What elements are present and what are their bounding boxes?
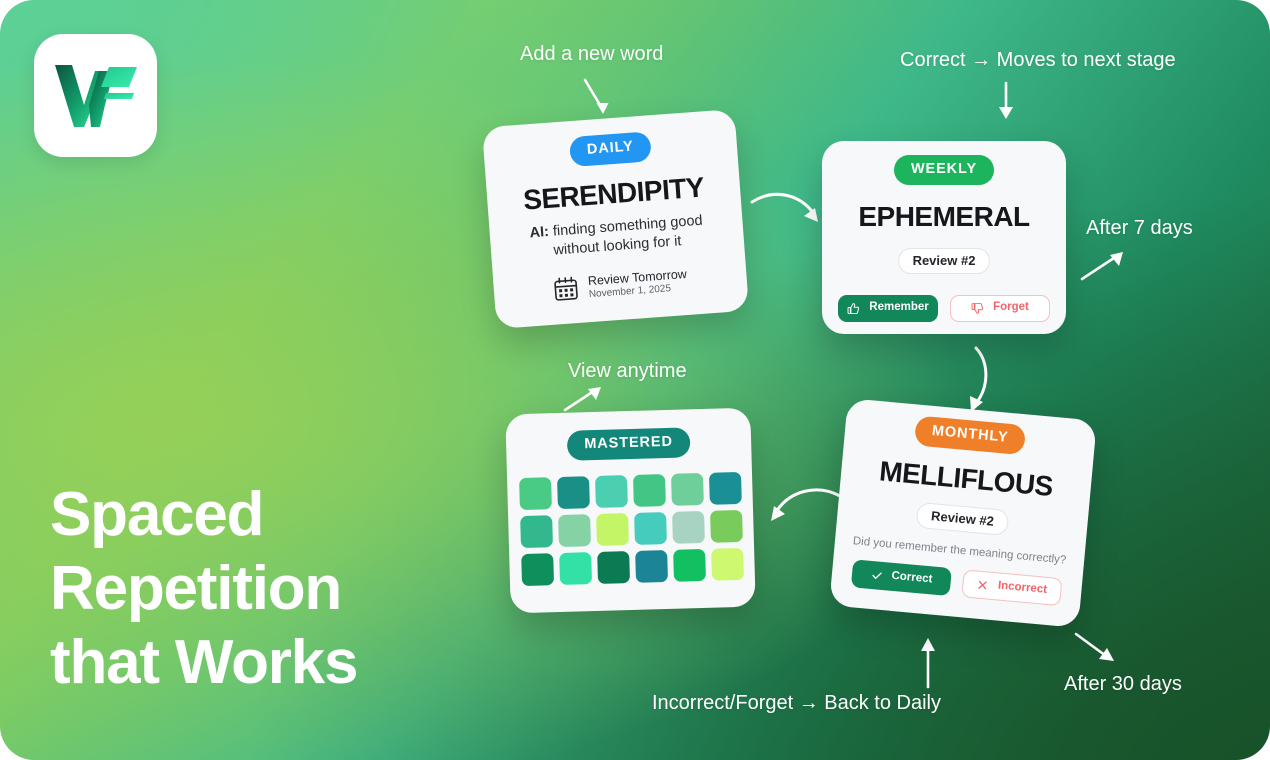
page-headline: Spaced Repetition that Works — [50, 478, 480, 700]
card-monthly-actions: Correct Incorrect — [847, 558, 1067, 606]
mastered-grid-cell — [596, 513, 629, 546]
connector-daily-to-weekly-icon — [748, 186, 828, 236]
thumbs-down-icon — [971, 302, 984, 315]
mastered-grid-cell — [632, 474, 665, 507]
calendar-icon — [552, 275, 580, 303]
remember-button[interactable]: Remember — [838, 295, 938, 322]
incorrect-button[interactable]: Incorrect — [961, 569, 1062, 606]
mastered-grid-cell — [673, 548, 706, 581]
cross-icon — [976, 578, 989, 591]
badge-mastered: MASTERED — [567, 427, 690, 460]
check-icon — [870, 568, 883, 581]
arrow-up-icon — [906, 634, 950, 690]
card-daily[interactable]: DAILY SERENDIPITY AI: finding something … — [482, 109, 749, 329]
arrow-down-right-icon-2 — [1070, 628, 1124, 666]
mastered-grid-cell — [711, 547, 744, 580]
mastered-grid-cell — [519, 477, 552, 510]
arrow-up-right-icon — [1077, 248, 1131, 284]
card-weekly-word: EPHEMERAL — [838, 201, 1050, 233]
mastered-grid-cell — [557, 476, 590, 509]
incorrect-button-label: Incorrect — [997, 580, 1047, 596]
app-logo — [34, 34, 157, 157]
card-daily-definition-label: AI: — [529, 223, 549, 240]
arrow-up-right-icon-2 — [560, 383, 608, 415]
mastered-grid-cell — [710, 509, 743, 542]
annotation-correct-next: Correct → Moves to next stage — [900, 48, 1176, 72]
card-weekly-review-pill: Review #2 — [898, 248, 991, 274]
forget-button[interactable]: Forget — [950, 295, 1050, 322]
card-daily-definition-text: finding something good without looking f… — [552, 212, 703, 258]
thumbs-up-icon — [847, 302, 860, 315]
annotation-add-word: Add a new word — [520, 42, 663, 66]
mastered-grid-cell — [597, 551, 630, 584]
card-daily-meta: Review Tomorrow November 1, 2025 — [511, 263, 729, 306]
badge-weekly: WEEKLY — [894, 155, 994, 185]
w-logo-icon — [53, 61, 139, 131]
correct-button[interactable]: Correct — [851, 559, 952, 596]
infographic-canvas: Spaced Repetition that Works Add a new w… — [0, 0, 1270, 760]
forget-button-label: Forget — [993, 302, 1029, 314]
remember-button-label: Remember — [869, 302, 928, 314]
annotation-after-30-days: After 30 days — [1064, 672, 1182, 696]
headline-line-1: Spaced — [50, 478, 480, 552]
headline-line-3: that Works — [50, 626, 480, 700]
mastered-grid-cell — [521, 553, 554, 586]
mastered-grid-cell — [520, 515, 553, 548]
mastered-grid-cell — [672, 510, 705, 543]
mastered-grid-cell — [634, 512, 667, 545]
headline-line-2: Repetition — [50, 552, 480, 626]
card-mastered[interactable]: MASTERED — [505, 408, 755, 614]
connector-monthly-to-mastered-icon — [762, 484, 844, 530]
card-daily-definition: AI: finding something good without looki… — [507, 210, 726, 264]
mastered-grid-cell — [635, 550, 668, 583]
mastered-grid-cell — [595, 475, 628, 508]
arrow-down-icon — [990, 80, 1022, 124]
mastered-progress-grid — [507, 471, 755, 586]
arrow-down-right-icon — [575, 76, 621, 120]
badge-daily: DAILY — [569, 131, 652, 166]
mastered-grid-cell — [708, 471, 741, 504]
mastered-grid-cell — [670, 472, 703, 505]
card-daily-word: SERENDIPITY — [504, 170, 723, 218]
card-monthly-review-pill: Review #2 — [915, 501, 1010, 535]
mastered-grid-cell — [558, 514, 591, 547]
correct-button-label: Correct — [891, 571, 933, 586]
card-weekly[interactable]: WEEKLY EPHEMERAL Review #2 Remember Forg… — [822, 141, 1066, 334]
mastered-grid-cell — [559, 552, 592, 585]
annotation-view-anytime: View anytime — [568, 359, 687, 383]
card-daily-meta-text: Review Tomorrow November 1, 2025 — [587, 266, 688, 300]
badge-monthly: MONTHLY — [914, 415, 1027, 454]
card-weekly-actions: Remember Forget — [838, 295, 1050, 322]
annotation-after-7-days: After 7 days — [1086, 216, 1193, 240]
annotation-incorrect-back: Incorrect/Forget → Back to Daily — [652, 691, 941, 715]
card-monthly[interactable]: MONTHLY MELLIFLOUS Review #2 Did you rem… — [829, 398, 1097, 628]
